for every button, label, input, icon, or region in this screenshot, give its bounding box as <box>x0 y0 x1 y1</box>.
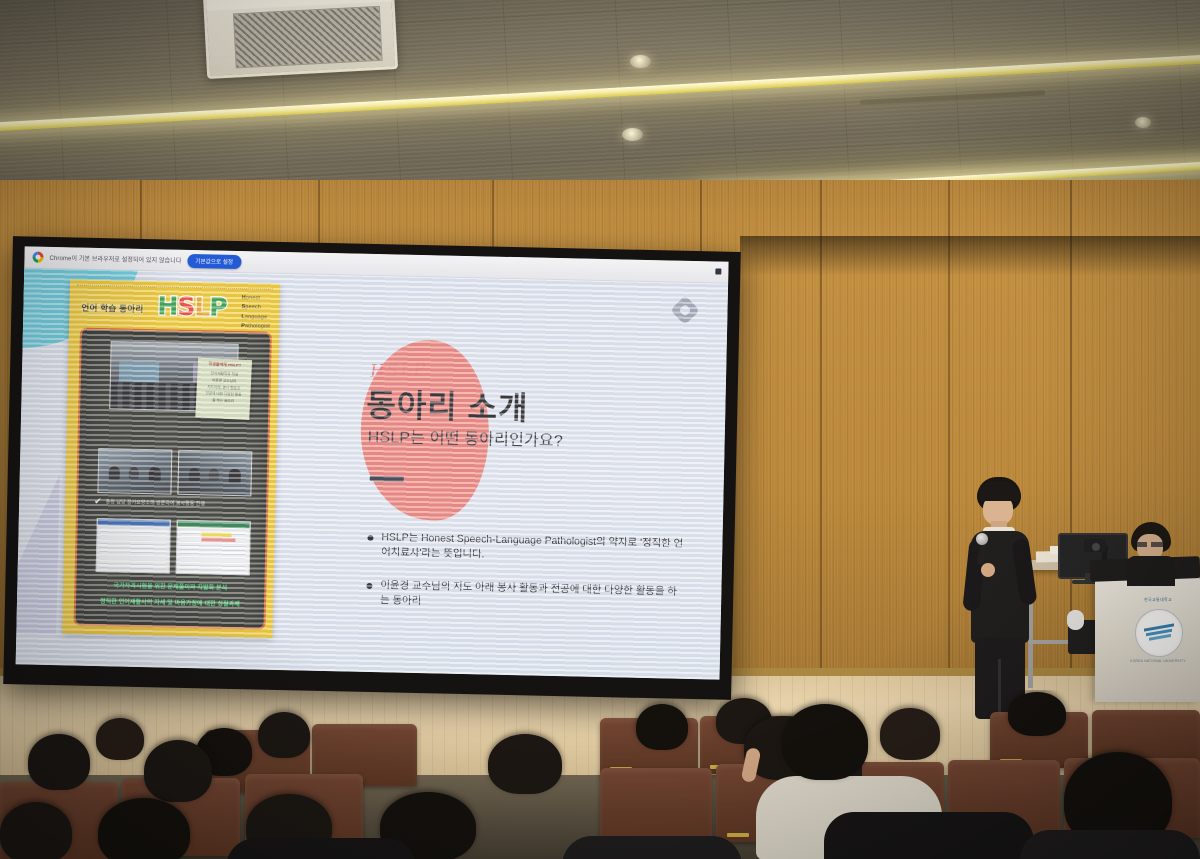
operator-body <box>1127 556 1175 586</box>
projection-screen: Chrome이 기본 브라우저로 설정되어 있지 않습니다 기본값으로 설정 언… <box>16 246 729 679</box>
glasses-icon <box>1137 542 1163 547</box>
poster-photo-spreadsheet <box>176 520 251 576</box>
ceiling-spotlight <box>622 128 643 141</box>
logo-letter-l: L <box>194 292 210 321</box>
sheet-toolbar <box>98 519 170 527</box>
air-conditioner-vent-icon <box>203 0 398 79</box>
poster-caption-2: 정직한 언어재활사의 자세 및 마음가짐에 대한 성찰과제 <box>86 596 254 609</box>
presenter-fringe <box>977 481 1021 501</box>
logo-letter-s: S <box>177 292 195 321</box>
club-poster-image: 언어 학습 동아리 HSLP Honest Speech Language Pa… <box>62 279 280 637</box>
camera-lens-icon <box>1092 543 1100 551</box>
poster-photo-spreadsheet <box>96 518 171 574</box>
poster-photo-volunteer <box>177 450 252 497</box>
slide-title: 동아리 소개 <box>366 380 529 430</box>
slide-divider <box>370 476 404 482</box>
auditorium-photo: Chrome이 기본 브라우저로 설정되어 있지 않습니다 기본값으로 설정 언… <box>0 0 1200 859</box>
sheet-highlight <box>201 532 231 536</box>
poster-caption-1: 국가자격시험을 위한 문제풀이와 자발화 분석 <box>90 580 250 592</box>
bullet-icon <box>366 583 372 589</box>
slide-bullet-list: HSLP는 Honest Speech-Language Pathologist… <box>366 530 686 633</box>
audience-head <box>28 734 90 790</box>
poster-hslp-logo: HSLP <box>157 291 227 322</box>
note-line: 을 하는 동아리 <box>199 397 247 406</box>
bullet-text: 이윤경 교수님의 지도 아래 봉사 활동과 전공에 대한 다양한 활동을 하는 … <box>380 578 685 615</box>
audience-shoulders <box>226 838 416 859</box>
photo-screen <box>119 361 159 382</box>
equipment-cylinder <box>1067 610 1084 630</box>
poster-sticky-note: 학생들에게 HSLP? 언어재활학과 학생 이윤경 교수님의 지도아래, 봉사 … <box>195 357 252 420</box>
audience-head <box>488 734 562 794</box>
emblem-bottom-text: KOREA NATIONAL UNIVERSITY <box>1121 659 1195 663</box>
sheet-grid <box>100 528 167 569</box>
poster-left-label: 언어 학습 동아리 <box>81 302 143 315</box>
slide-script-label: HSLP <box>370 359 428 382</box>
seated-operator <box>1127 522 1175 584</box>
options-icon[interactable] <box>715 268 721 274</box>
audience-shoulders <box>562 836 742 859</box>
chrome-icon <box>32 252 43 263</box>
poster-dark-board: 학생들에게 HSLP? 언어재활학과 학생 이윤경 교수님의 지도아래, 봉사 … <box>73 328 271 630</box>
presenter <box>963 477 1035 717</box>
audience-head <box>636 704 688 750</box>
university-emblem-icon <box>1135 609 1183 657</box>
poster-dotted-line <box>77 285 273 290</box>
audience-head <box>0 802 72 859</box>
podium: 한국교통대학교 KOREA NATIONAL UNIVERSITY <box>1095 577 1200 702</box>
list-item: 이윤경 교수님의 지도 아래 봉사 활동과 전공에 대한 다양한 활동을 하는 … <box>366 578 685 615</box>
bullet-text: HSLP는 Honest Speech-Language Pathologist… <box>381 530 686 567</box>
poster-photo-volunteer <box>97 448 172 495</box>
audience-head <box>98 798 190 859</box>
poster-check-caption: ✔ 충청 남당 장기요양소에 방문하여 봉사활동 진행 <box>94 496 205 509</box>
emblem-top-text: 한국교통대학교 <box>1121 597 1195 603</box>
sheet-toolbar <box>178 521 250 529</box>
audience-head <box>880 708 940 760</box>
emblem-wave <box>1144 623 1174 642</box>
audience <box>0 690 1200 859</box>
audience-shoulders <box>824 812 1034 859</box>
projection-screen-frame: Chrome이 기본 브라우저로 설정되어 있지 않습니다 기본값으로 설정 언… <box>3 236 741 700</box>
note-heading: 학생들에게 HSLP? <box>201 361 249 369</box>
wall-shadow <box>740 236 1200 276</box>
logo-letter-p: P <box>209 292 227 321</box>
bullet-icon <box>367 535 373 541</box>
set-default-button[interactable]: 기본값으로 설정 <box>187 253 241 268</box>
audience-head <box>96 718 144 760</box>
audience-head <box>144 740 212 802</box>
presentation-slide: 언어 학습 동아리 HSLP Honest Speech Language Pa… <box>16 268 728 679</box>
audience-head-ponytail <box>782 704 868 780</box>
ceiling-spotlight <box>1135 117 1151 128</box>
list-item: HSLP는 Honest Speech-Language Pathologist… <box>367 530 686 567</box>
auditorium-seat <box>600 768 712 846</box>
microphone-head <box>976 533 988 545</box>
ceiling-spotlight <box>630 55 651 68</box>
poster-acronym-list: Honest Speech Language Pathologist <box>241 294 271 332</box>
presenter-hand <box>981 563 995 577</box>
audience-shoulders <box>1020 830 1200 859</box>
sheet-highlight <box>201 537 235 541</box>
notification-message: Chrome이 기본 브라우저로 설정되어 있지 않습니다 <box>49 253 181 265</box>
logo-letter-h: H <box>157 291 178 320</box>
lavender-decoration-shape <box>16 473 60 634</box>
slide-subtitle: HSLP는 어떤 동아리인가요? <box>367 423 563 451</box>
diamond-logo-icon <box>670 295 700 325</box>
check-icon: ✔ <box>94 496 102 507</box>
vent-grille <box>233 6 383 69</box>
audience-head <box>258 712 310 758</box>
audience-head <box>1008 692 1066 736</box>
